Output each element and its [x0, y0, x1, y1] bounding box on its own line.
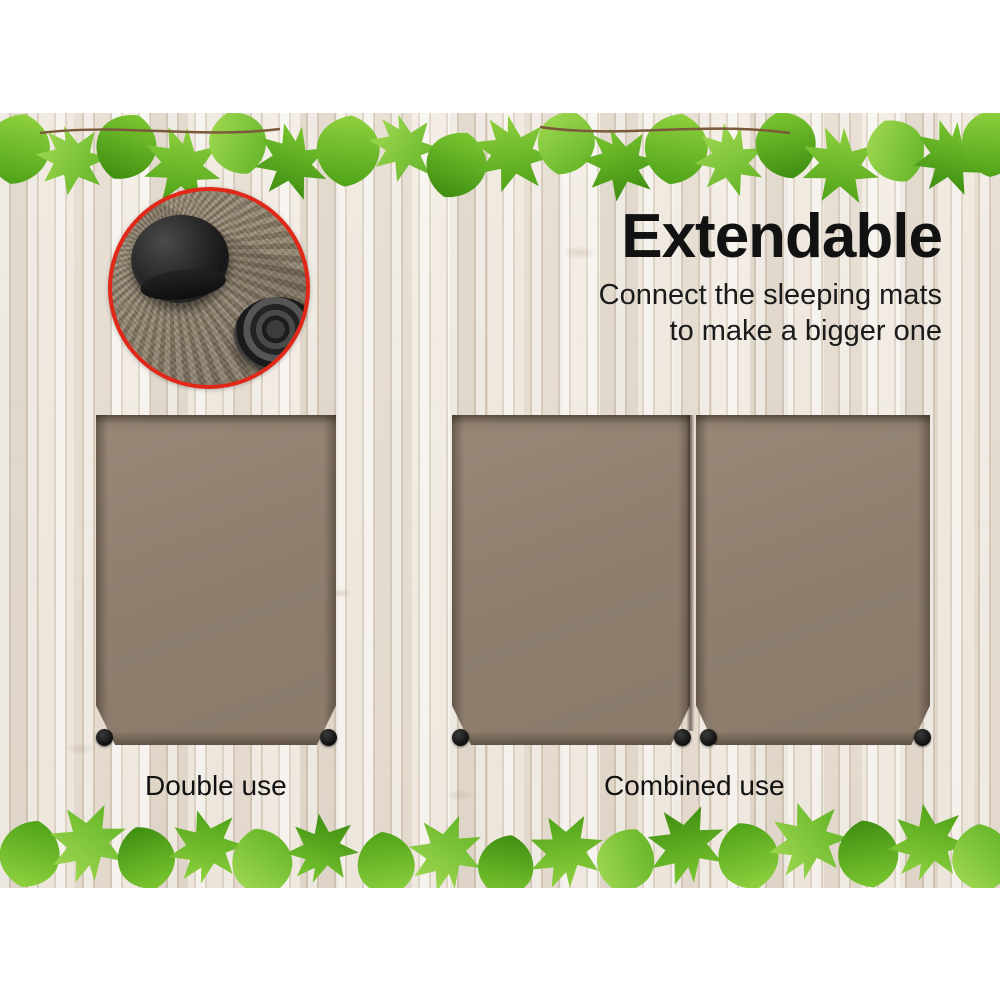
mat-combined-left [452, 415, 690, 745]
mat-single-surface [96, 415, 336, 745]
snap-button-combined-far-left [452, 729, 469, 746]
snap-button-combined-inner-right [700, 729, 717, 746]
caption-double-use: Double use [145, 770, 287, 802]
infographic-canvas: Extendable Connect the sleeping mats to … [0, 0, 1000, 1000]
snap-connector-inset [108, 187, 310, 389]
mat-combined-seam [687, 415, 694, 731]
snap-button-mat-single-right [320, 729, 337, 746]
mat-combined-left-surface [452, 415, 690, 745]
mat-combined-right-surface [696, 415, 930, 745]
caption-combined-use: Combined use [604, 770, 785, 802]
snap-button-female-icon [230, 293, 310, 373]
page-title: Extendable [522, 205, 942, 268]
snap-button-mat-single-left [96, 729, 113, 746]
mat-combined-right [696, 415, 930, 745]
headline-block: Extendable Connect the sleeping mats to … [522, 205, 942, 349]
subtitle: Connect the sleeping mats to make a bigg… [522, 278, 942, 349]
mat-single [96, 415, 336, 745]
subtitle-line-2: to make a bigger one [522, 314, 942, 349]
snap-button-combined-far-right [914, 729, 931, 746]
subtitle-line-1: Connect the sleeping mats [522, 278, 942, 313]
snap-button-combined-inner-left [674, 729, 691, 746]
